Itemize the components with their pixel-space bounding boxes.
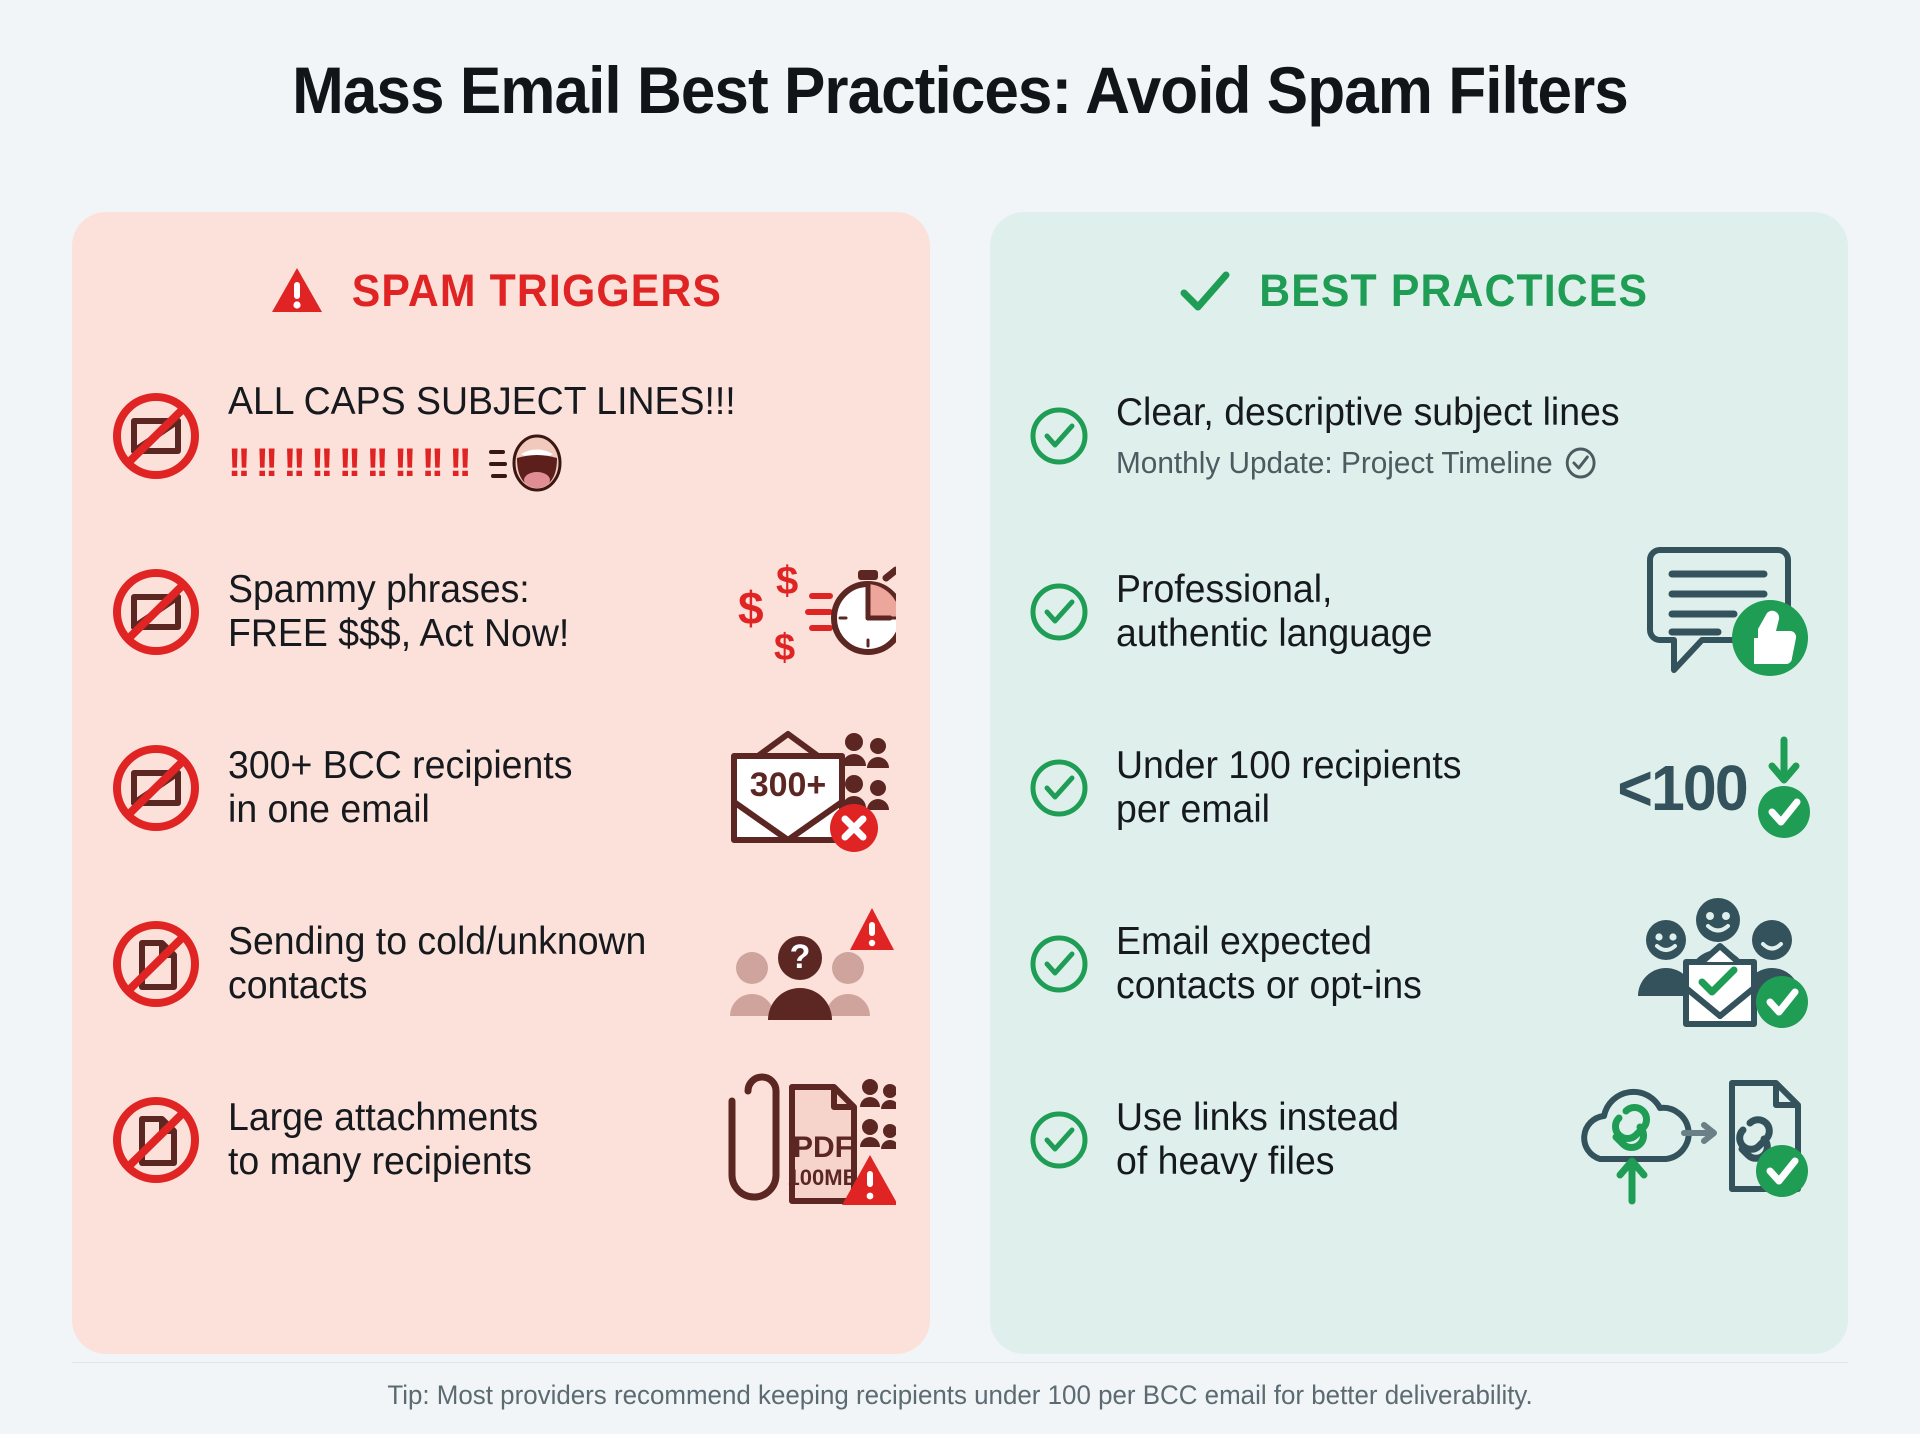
list-item: Sending to cold/unknown contacts — [106, 876, 896, 1052]
unknown-contacts-icon: ? — [726, 900, 896, 1028]
file-type-label: PDF — [793, 1131, 853, 1164]
list-item-body: Sending to cold/unknown contacts — [228, 900, 896, 1028]
svg-text:?: ? — [790, 938, 811, 976]
infographic-page: Mass Email Best Practices: Avoid Spam Fi… — [0, 0, 1920, 1434]
happy-people-envelope-icon — [1630, 896, 1814, 1032]
dollar-stopwatch-icon: $ $ $ — [728, 552, 896, 672]
check-circle-icon — [1024, 581, 1094, 643]
list-item: Under 100 recipients per email <100 — [1024, 700, 1814, 876]
best-practices-header: BEST PRACTICES — [1024, 252, 1814, 330]
check-icon — [1179, 269, 1231, 313]
less-than-100-icon: <100 — [1614, 734, 1814, 842]
exclamation-pair: !! — [449, 443, 468, 483]
check-circle-outline-icon — [1564, 446, 1597, 480]
spam-triggers-list: ALL CAPS SUBJECT LINES!!! !! !! !! !! !!… — [106, 348, 896, 1228]
list-item-label: ALL CAPS SUBJECT LINES!!! — [228, 380, 736, 424]
pdf-attachment-icon: PDF 100MB — [718, 1073, 896, 1207]
list-item: Use links instead of heavy files — [1024, 1052, 1814, 1228]
list-item-body: Use links instead of heavy files — [1116, 1075, 1814, 1205]
exclamation-pair: !! — [228, 443, 247, 483]
list-item-body: 300+ BCC recipients in one email 300+ — [228, 722, 896, 854]
list-item: Spammy phrases: FREE $$$, Act Now! $ $ $ — [106, 524, 896, 700]
spam-triggers-header: SPAM TRIGGERS — [106, 252, 896, 330]
list-item-body: Professional, authentic language — [1116, 546, 1814, 678]
no-document-icon — [106, 917, 206, 1011]
exclamation-pair: !! — [339, 443, 358, 483]
best-practices-heading: BEST PRACTICES — [1260, 265, 1649, 317]
svg-text:$: $ — [738, 582, 764, 634]
best-practices-list: Clear, descriptive subject lines Monthly… — [1024, 348, 1814, 1228]
list-item: Professional, authentic language — [1024, 524, 1814, 700]
list-item-label: Clear, descriptive subject lines — [1116, 391, 1620, 435]
exclamation-pair: !! — [256, 443, 275, 483]
shouting-mouth-icon — [487, 434, 563, 492]
recipient-limit-label: <100 — [1617, 751, 1746, 825]
warning-triangle-icon — [270, 266, 324, 316]
list-item-label: Large attachments to many recipients — [228, 1096, 538, 1183]
svg-text:$: $ — [774, 627, 795, 669]
no-document-icon — [106, 1093, 206, 1187]
check-circle-icon — [1024, 1109, 1094, 1171]
list-item: Clear, descriptive subject lines Monthly… — [1024, 348, 1814, 524]
svg-text:$: $ — [776, 559, 798, 603]
list-item: Email expected contacts or opt-ins — [1024, 876, 1814, 1052]
list-item: ALL CAPS SUBJECT LINES!!! !! !! !! !! !!… — [106, 348, 896, 524]
best-practices-panel: BEST PRACTICES Clear, descriptive subjec… — [990, 212, 1848, 1354]
subject-line-example: Monthly Update: Project Timeline — [1116, 445, 1620, 481]
list-item-label: Spammy phrases: FREE $$$, Act Now! — [228, 568, 569, 655]
panels-container: SPAM TRIGGERS — [72, 212, 1848, 1354]
list-item-body: Under 100 recipients per email <100 — [1116, 734, 1814, 842]
list-item-body: Spammy phrases: FREE $$$, Act Now! $ $ $ — [228, 552, 896, 672]
envelope-count-label: 300+ — [750, 766, 827, 804]
list-item-label: Under 100 recipients per email — [1116, 744, 1461, 831]
envelope-300-plus-icon: 300+ — [720, 722, 896, 854]
list-item-label: Email expected contacts or opt-ins — [1116, 920, 1422, 1007]
down-arrow-check-icon — [1754, 734, 1814, 842]
cloud-link-file-icon — [1566, 1075, 1814, 1205]
exclamation-pair: !! — [311, 443, 330, 483]
file-size-label: 100MB — [788, 1165, 859, 1190]
exclamation-pair: !! — [366, 443, 385, 483]
check-circle-icon — [1024, 405, 1094, 467]
footer-divider — [72, 1362, 1848, 1363]
footer-tip: Tip: Most providers recommend keeping re… — [38, 1380, 1881, 1411]
list-item: 300+ BCC recipients in one email 300+ — [106, 700, 896, 876]
list-item-label: Professional, authentic language — [1116, 568, 1432, 655]
list-item-label: 300+ BCC recipients in one email — [228, 744, 572, 831]
exclamation-pair: !! — [283, 443, 302, 483]
speech-bubble-thumbs-up-icon — [1642, 546, 1814, 678]
subject-line-example-text: Monthly Update: Project Timeline — [1116, 445, 1553, 481]
list-item-label: Sending to cold/unknown contacts — [228, 920, 646, 1007]
exclamation-pair: !! — [394, 443, 413, 483]
no-envelope-icon — [106, 741, 206, 835]
no-envelope-icon — [106, 565, 206, 659]
check-circle-icon — [1024, 757, 1094, 819]
no-envelope-icon — [106, 389, 206, 483]
list-item-body: Clear, descriptive subject lines Monthly… — [1116, 391, 1814, 481]
list-item-body: Large attachments to many recipients PDF… — [228, 1073, 896, 1207]
page-title: Mass Email Best Practices: Avoid Spam Fi… — [58, 52, 1863, 128]
spam-triggers-heading: SPAM TRIGGERS — [352, 265, 722, 317]
list-item-label: Use links instead of heavy files — [1116, 1096, 1399, 1183]
check-circle-icon — [1024, 933, 1094, 995]
spam-triggers-panel: SPAM TRIGGERS — [72, 212, 930, 1354]
list-item-body: Email expected contacts or opt-ins — [1116, 896, 1814, 1032]
exclamation-marks-row: !! !! !! !! !! !! !! !! !! — [228, 434, 757, 492]
list-item-body: ALL CAPS SUBJECT LINES!!! !! !! !! !! !!… — [228, 380, 896, 492]
list-item: Large attachments to many recipients PDF… — [106, 1052, 896, 1228]
exclamation-pair: !! — [421, 443, 440, 483]
